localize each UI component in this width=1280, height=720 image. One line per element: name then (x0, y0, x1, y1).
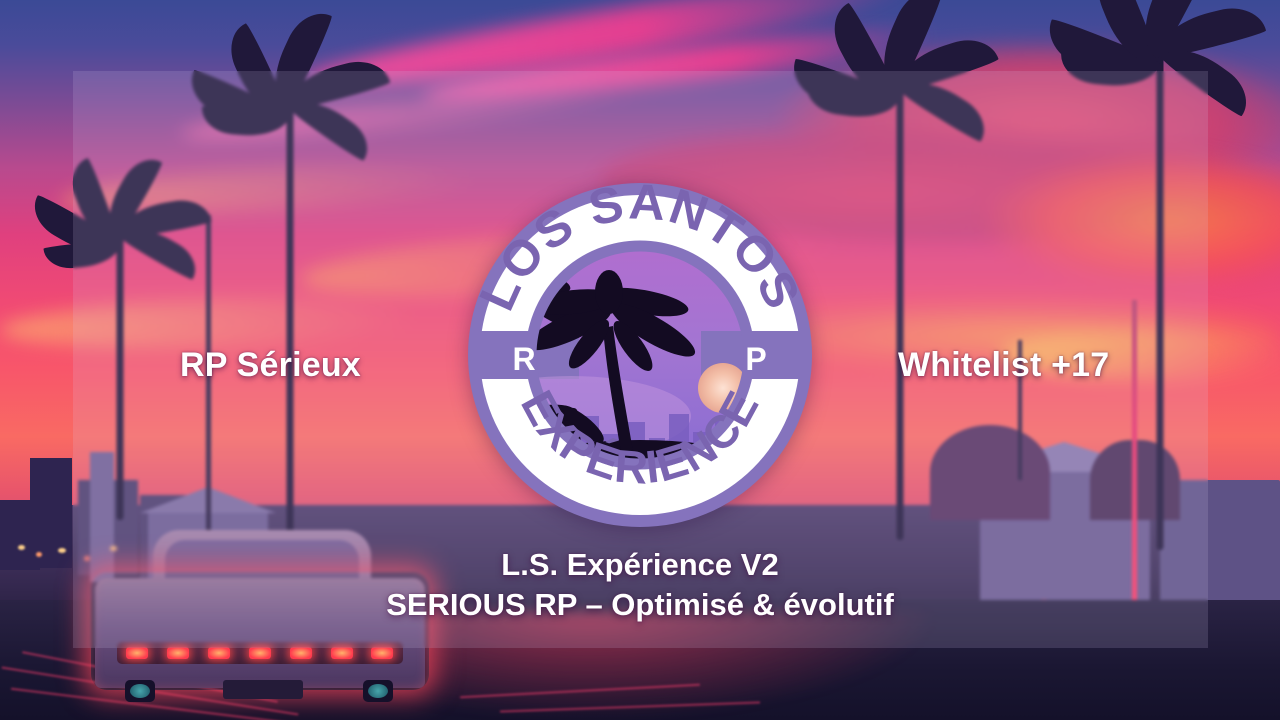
license-plate (223, 680, 303, 699)
subtitle-line-2: SERIOUS RP – Optimisé & évolutif (0, 585, 1280, 625)
logo-marker-r: R (512, 341, 535, 377)
subtitle-block: L.S. Expérience V2 SERIOUS RP – Optimisé… (0, 545, 1280, 625)
logo-badge[interactable]: LOS SANTOS EXPÉRIENCE R P (461, 176, 819, 534)
headline-right-label: Whitelist +17 (898, 346, 1109, 385)
headline-left-label: RP Sérieux (180, 346, 361, 385)
subtitle-line-1: L.S. Expérience V2 (0, 545, 1280, 585)
promo-banner: LOS SANTOS EXPÉRIENCE R P RP Sérieux Whi… (0, 0, 1280, 720)
logo-marker-p: P (745, 341, 766, 377)
